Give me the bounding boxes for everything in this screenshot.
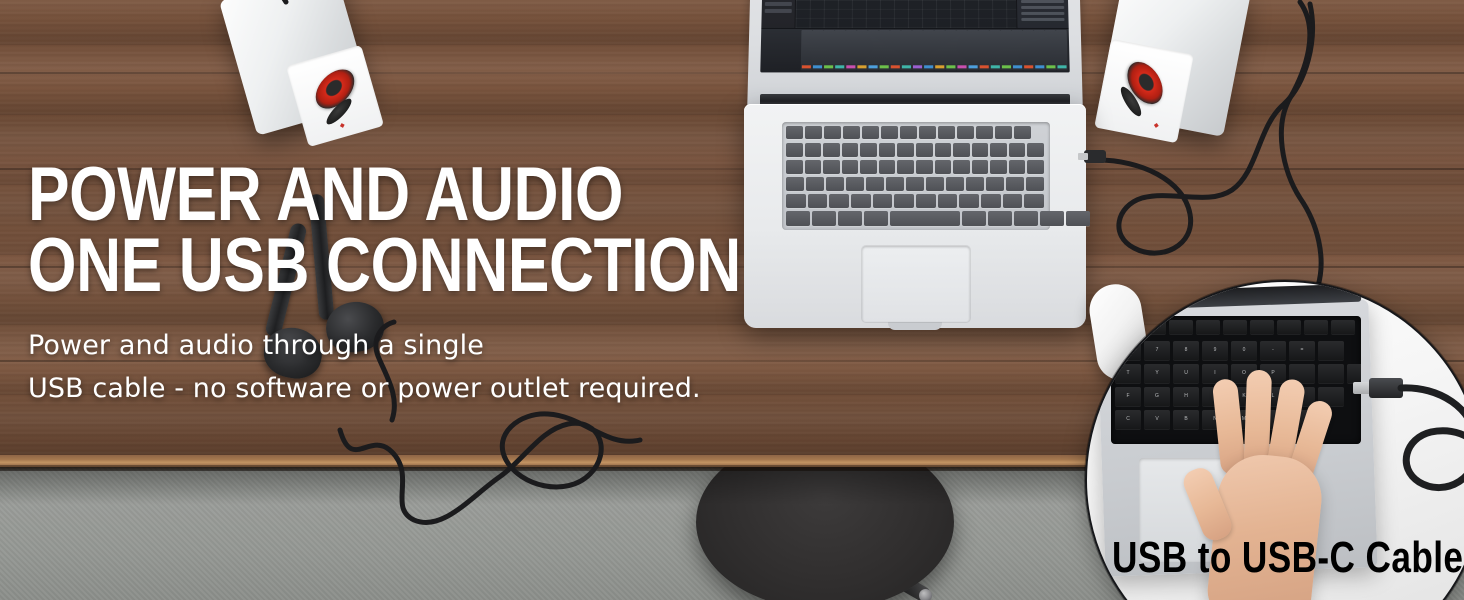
laptop-key [916,194,936,208]
laptop-key [786,160,803,174]
laptop-key [842,143,859,157]
daw-mixer-strip-color [1024,65,1033,68]
laptop-key [981,194,1001,208]
daw-mixer-strip-color [935,65,944,68]
laptop-key [897,160,914,174]
laptop-key [846,177,864,191]
laptop-key [1003,194,1023,208]
daw-mixer-strip-color [969,65,978,68]
laptop-key [1009,160,1026,174]
daw-mixer-strip [923,30,934,70]
laptop-key [851,194,871,208]
laptop-key [873,194,893,208]
laptop-trackpad [862,246,970,322]
laptop-key [879,143,896,157]
laptop-key [897,143,914,157]
daw-track-row [765,9,792,13]
laptop-key [916,160,933,174]
daw-mixer-strip-color [1057,65,1066,68]
laptop-key [938,126,955,139]
daw-mixer-strip [801,30,813,70]
laptop [744,0,1084,328]
daw-mixer-strip-color [1046,65,1055,68]
daw-mixer-strip [1056,30,1068,70]
laptop-key [1006,177,1024,191]
daw-mixer-strip [1000,30,1012,70]
laptop-key [866,177,884,191]
laptop-key [879,160,896,174]
laptop-key [953,160,970,174]
daw-mixer-strip [1034,30,1046,70]
laptop-key [1040,211,1064,226]
daw-mixer-strip [934,30,945,70]
daw-timeline [795,0,1016,28]
laptop-key [957,126,974,139]
laptop-key [842,160,859,174]
laptop-key [1014,211,1038,226]
laptop-key [786,211,810,226]
laptop-key [900,126,917,139]
laptop-key [894,194,914,208]
laptop-key [786,143,803,157]
laptop-key [990,160,1007,174]
daw-mixer-strip-color [980,65,989,68]
laptop-key [808,194,828,208]
daw-mixer-strip [967,30,978,70]
laptop-key [824,126,841,139]
daw-mixer-strip-color [1035,65,1044,68]
laptop-key [935,160,952,174]
laptop-key [812,211,836,226]
daw-mixer-strip-color [880,65,889,68]
laptop-key [805,160,822,174]
laptop-key [935,143,952,157]
laptop-key [826,177,844,191]
daw-mixer-strip [956,30,967,70]
daw-mixer-strip [879,30,890,70]
daw-mixer-strip-color [946,65,955,68]
laptop-key [786,126,803,139]
daw-mixer-strip [978,30,990,70]
laptop-key [843,126,860,139]
chair-caster [919,589,932,600]
laptop-key [838,211,862,226]
daw-mixer [760,28,1069,72]
daw-mixer-strip-color [1002,65,1011,68]
laptop-key [938,194,958,208]
laptop-key [976,126,993,139]
daw-mixer-strip [1023,30,1035,70]
laptop-key [906,177,924,191]
daw-mixer-strip [1045,30,1057,70]
laptop-key [864,211,888,226]
daw-mixer-strip-color [913,65,922,68]
daw-mixer-strip-color [902,65,911,68]
daw-mixer-strip-color [891,65,900,68]
daw-mixer-strip-color [846,65,855,68]
daw-mixer-strip-color [802,65,811,68]
laptop-key [953,143,970,157]
daw-mixer-strip-color [1013,65,1022,68]
daw-inspector-row [1021,6,1064,9]
daw-mixer-strip [834,30,846,70]
laptop-key [990,143,1007,157]
daw-mixer-strip [1011,30,1023,70]
laptop-key [786,177,804,191]
daw-mixer-strip [856,30,867,70]
desk-plank-seam [0,72,1464,74]
laptop-key [823,143,840,157]
copy-block: POWER AND AUDIO ONE USB CONNECTION Power… [28,160,748,408]
daw-mixer-strip [890,30,901,70]
laptop-key [786,194,806,208]
laptop-key [1009,143,1026,157]
laptop-key [1024,194,1044,208]
subcopy-line-2: USB cable - no software or power outlet … [28,370,748,408]
laptop-key [1026,177,1044,191]
headline-line-2: ONE USB CONNECTION [28,231,618,302]
subcopy-line-1: Power and audio through a single [28,327,748,365]
daw-mixer-strip [912,30,923,70]
daw-mixer-strip-color [813,65,822,68]
daw-inspector-row [1021,12,1064,15]
daw-mixer-strip [989,30,1001,70]
laptop-key [972,143,989,157]
daw-mixer-strip [823,30,835,70]
daw-inspector-panel [1015,0,1069,28]
inset-caption: USB to USB-C Cable [1112,536,1463,580]
daw-mixer-strip-color [924,65,933,68]
laptop-key [962,211,986,226]
daw-mixer-strip-color [991,65,1000,68]
laptop-keyboard [782,122,1050,230]
laptop-key [890,211,960,226]
laptop-key [860,160,877,174]
laptop-key [972,160,989,174]
laptop-key [916,143,933,157]
laptop-key [986,177,1004,191]
laptop-key [1027,160,1044,174]
daw-mixer-strip-color [857,65,866,68]
daw-inspector-row [1021,18,1064,21]
daw-mixer-strip-color [869,65,878,68]
daw-mixer-strip [945,30,956,70]
laptop-key [919,126,936,139]
daw-inspector-row [1021,0,1064,3]
laptop-key [860,143,877,157]
laptop-key [988,211,1012,226]
daw-mixer-strip-color [957,65,966,68]
daw-mixer-strip-color [835,65,844,68]
laptop-key [946,177,964,191]
laptop-key [959,194,979,208]
daw-track-row [765,2,792,6]
laptop-key [806,177,824,191]
promo-banner: ◆ ◆ [0,0,1464,600]
headline-line-1: POWER AND AUDIO [28,160,618,231]
daw-track-list [761,0,797,28]
laptop-key [926,177,944,191]
daw-mixer-strip [867,30,878,70]
laptop-key [823,160,840,174]
inset-usb-cable [1401,388,1464,488]
laptop-key [805,126,822,139]
laptop-key [829,194,849,208]
daw-mixer-strip [845,30,856,70]
laptop-key [1014,126,1031,139]
daw-mixer-strip [812,30,824,70]
laptop-key [1066,211,1090,226]
daw-mixer-strip-color [824,65,833,68]
laptop-key [862,126,879,139]
laptop-key [881,126,898,139]
daw-mixer-strip [901,30,912,70]
laptop-screen [760,0,1069,72]
laptop-key [805,143,822,157]
laptop-key [1027,143,1044,157]
laptop-key [886,177,904,191]
laptop-key [966,177,984,191]
laptop-key [995,126,1012,139]
